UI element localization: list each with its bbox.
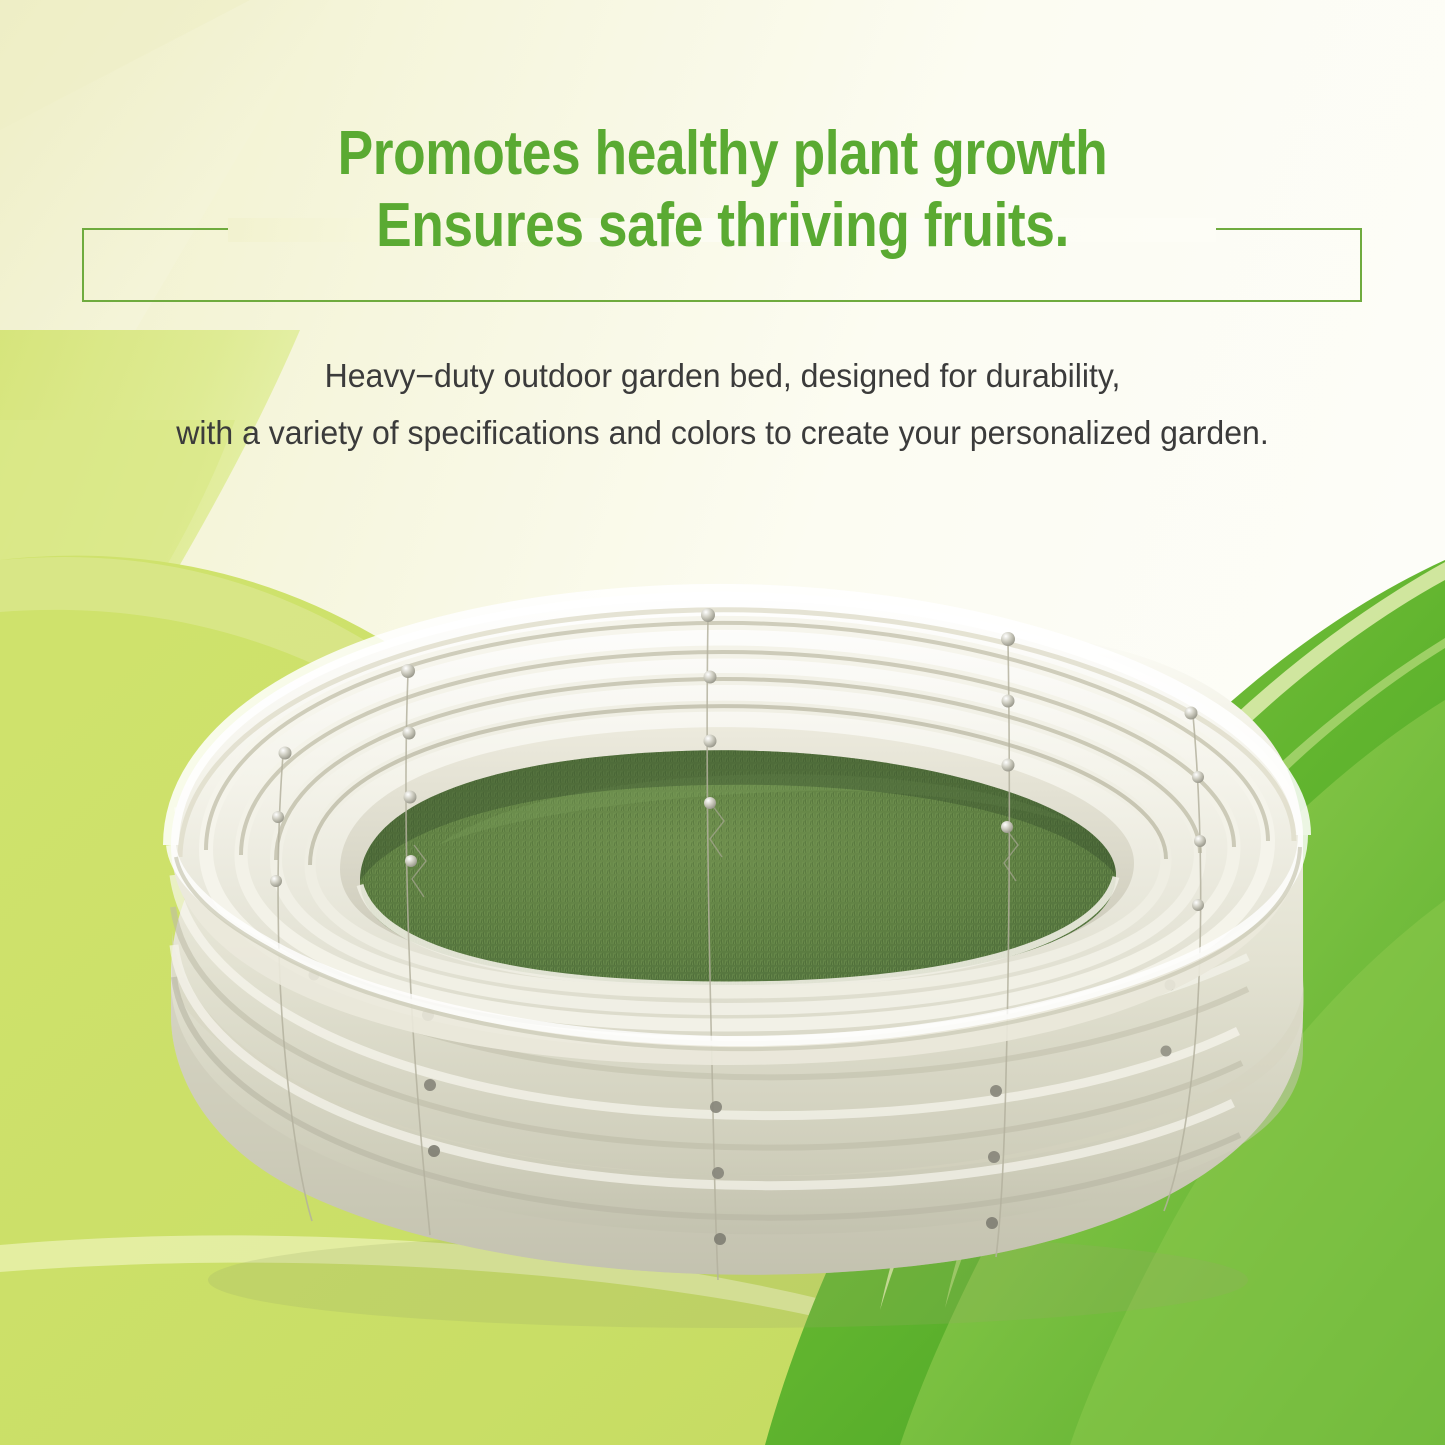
headline-line-2: Ensures safe thriving fruits. <box>101 190 1344 262</box>
garden-bed-product-image <box>108 545 1318 1335</box>
subtitle: Heavy−duty outdoor garden bed, designed … <box>22 348 1424 462</box>
headline: Promotes healthy plant growth Ensures sa… <box>101 118 1344 262</box>
subtitle-line-2: with a variety of specifications and col… <box>22 405 1424 462</box>
subtitle-line-1: Heavy−duty outdoor garden bed, designed … <box>22 348 1424 405</box>
headline-line-1: Promotes healthy plant growth <box>101 118 1344 190</box>
product-marketing-banner: Promotes healthy plant growth Ensures sa… <box>0 0 1445 1445</box>
